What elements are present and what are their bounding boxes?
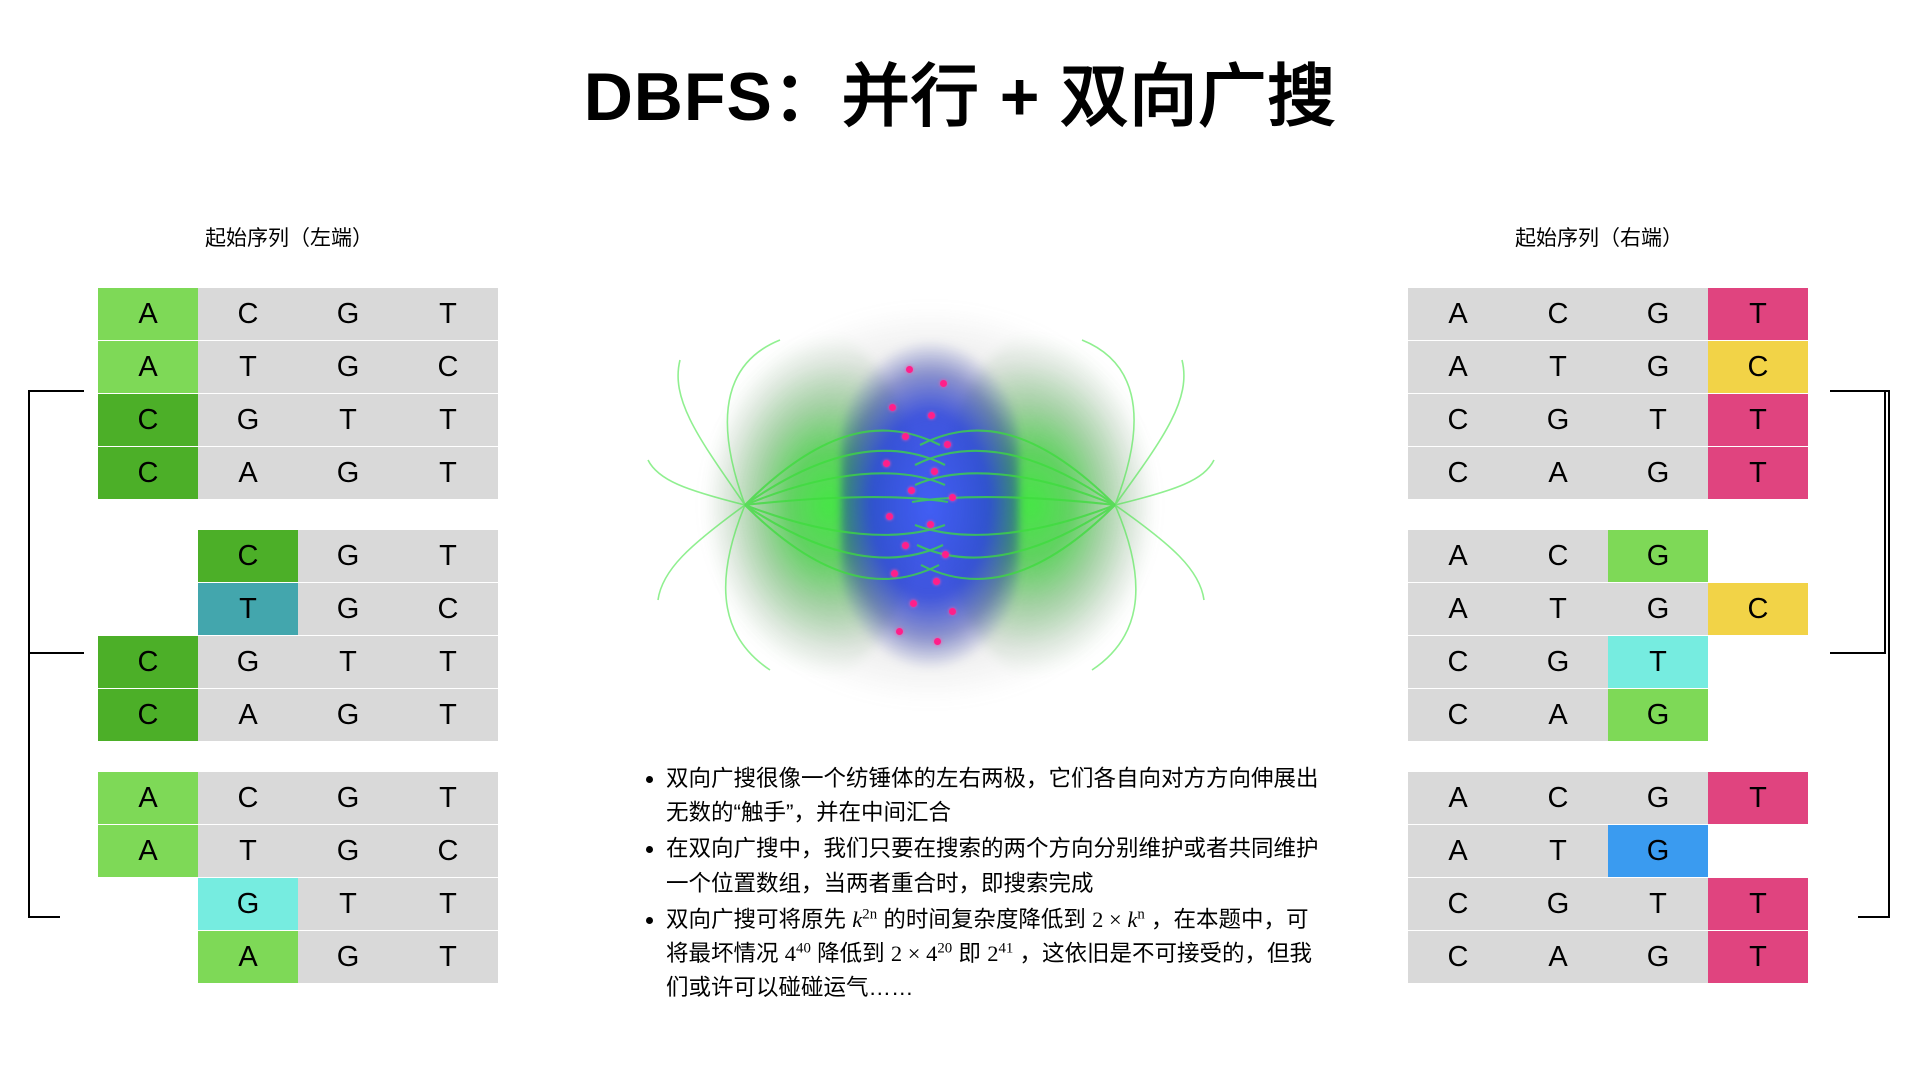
page-title: DBFS：并行 + 双向广搜 [0, 58, 1920, 136]
nucleotide-cell: T [198, 825, 298, 877]
nucleotide-cell: G [298, 689, 398, 741]
block-gap [1408, 500, 1808, 530]
explanation-bullets: 双向广搜很像一个纺锤体的左右两极，它们各自向对方方向伸展出无数的“触手”，并在中… [640, 762, 1320, 1007]
nucleotide-cell: G [298, 772, 398, 824]
block-gap [98, 500, 498, 530]
bullet-1: 双向广搜很像一个纺锤体的左右两极，它们各自向对方方向伸展出无数的“触手”，并在中… [666, 762, 1320, 830]
sequence-row: ACGT [1408, 288, 1808, 340]
nucleotide-cell: A [1408, 530, 1508, 582]
nucleotide-cell: A [1508, 689, 1608, 741]
right-bracket-lower [1858, 390, 1890, 918]
kinetochore-dot [891, 570, 898, 577]
right-block-1: ACGTATGCCGTTCAGT [1408, 288, 1808, 499]
math-token: 2 [987, 941, 998, 966]
sequence-row: CGT [98, 530, 498, 582]
nucleotide-cell: C [1408, 878, 1508, 930]
nucleotide-cell: G [1608, 772, 1708, 824]
right-block-2: ACGATGCCGTCAG [1408, 530, 1808, 741]
kinetochore-dot [949, 494, 956, 501]
nucleotide-cell: G [1608, 341, 1708, 393]
nucleotide-cell: G [1608, 447, 1708, 499]
nucleotide-cell: G [198, 636, 298, 688]
bullet-text: 即 [952, 941, 987, 966]
kinetochore-dot [902, 433, 909, 440]
kinetochore-dot [889, 404, 896, 411]
nucleotide-cell: T [398, 772, 498, 824]
sequence-row: CGT [1408, 636, 1808, 688]
nucleotide-cell: T [1708, 931, 1808, 983]
sequence-row: CAG [1408, 689, 1808, 741]
nucleotide-cell: T [1608, 394, 1708, 446]
left-sequence-panel: ACGTATGCCGTTCAGTCGTTGCCGTTCAGTACGTATGCGT… [98, 288, 498, 984]
nucleotide-cell: G [1608, 288, 1708, 340]
nucleotide-cell: C [98, 447, 198, 499]
math-token: k [852, 907, 862, 932]
spacer-cell [98, 878, 198, 930]
nucleotide-cell: T [1708, 878, 1808, 930]
nucleotide-cell: G [1608, 689, 1708, 741]
nucleotide-cell: C [98, 689, 198, 741]
nucleotide-cell: G [1608, 530, 1708, 582]
nucleotide-cell: A [1508, 931, 1608, 983]
nucleotide-cell: G [1608, 931, 1708, 983]
nucleotide-cell: C [1508, 772, 1608, 824]
nucleotide-cell: A [198, 447, 298, 499]
kinetochore-dot [944, 441, 951, 448]
math-token: 2 × 4 [891, 941, 937, 966]
nucleotide-cell: C [1408, 394, 1508, 446]
nucleotide-cell: G [298, 288, 398, 340]
right-column-label: 起始序列（右端） [1515, 222, 1683, 252]
kinetochore-dot [896, 628, 903, 635]
nucleotide-cell: T [1708, 288, 1808, 340]
kinetochore-dot [942, 551, 949, 558]
sequence-row: ATGC [98, 341, 498, 393]
bullet-text: 双向广搜可将原先 [666, 907, 852, 932]
left-block-3: ACGTATGCGTTAGT [98, 772, 498, 983]
kinetochore-dot [910, 600, 917, 607]
nucleotide-cell: T [398, 288, 498, 340]
nucleotide-cell: T [1708, 394, 1808, 446]
kinetochore-dot [934, 638, 941, 645]
spacer-cell [98, 583, 198, 635]
nucleotide-cell: G [298, 583, 398, 635]
nucleotide-cell: T [398, 530, 498, 582]
right-sequence-panel: ACGTATGCCGTTCAGTACGATGCCGTCAGACGTATGCGTT… [1408, 288, 1808, 984]
sequence-row: CAGT [1408, 931, 1808, 983]
sequence-row: CAGT [1408, 447, 1808, 499]
kinetochore-dot [931, 468, 938, 475]
math-exponent: 41 [998, 940, 1013, 956]
sequence-row: ACGT [98, 772, 498, 824]
nucleotide-cell: G [298, 825, 398, 877]
bullet-3: 双向广搜可将原先 k2n 的时间复杂度降低到 2 × kn ，在本题中，可将最坏… [666, 903, 1320, 1006]
nucleotide-cell: T [1508, 341, 1608, 393]
nucleotide-cell: T [1708, 447, 1808, 499]
nucleotide-cell: C [1408, 636, 1508, 688]
sequence-row: TGC [98, 583, 498, 635]
sequence-row: ATGC [1408, 341, 1808, 393]
nucleotide-cell: T [1508, 825, 1608, 877]
kinetochore-dot [886, 513, 893, 520]
bullet-text: 双向广搜很像一个纺锤体的左右两极，它们各自向对方方向伸展出无数的“触手”，并在中… [666, 766, 1319, 825]
bullet-text: 的时间复杂度降低到 [877, 907, 1092, 932]
nucleotide-cell: T [398, 931, 498, 983]
right-block-3: ACGTATGCGTTCAGT [1408, 772, 1808, 983]
nucleotide-cell: T [1508, 583, 1608, 635]
nucleotide-cell: G [298, 341, 398, 393]
kinetochore-dot [883, 460, 890, 467]
nucleotide-cell: G [1608, 583, 1708, 635]
math-exponent: n [1137, 906, 1144, 922]
kinetochore-dot [908, 487, 915, 494]
sequence-row: AGT [98, 931, 498, 983]
left-block-2: CGTTGCCGTTCAGT [98, 530, 498, 741]
block-gap [98, 742, 498, 772]
mitotic-spindle-image [640, 270, 1220, 740]
nucleotide-cell: A [1408, 772, 1508, 824]
nucleotide-cell: A [98, 825, 198, 877]
left-bracket-lower [28, 390, 60, 918]
sequence-row: ATG [1408, 825, 1808, 877]
math-token: k [1127, 907, 1137, 932]
nucleotide-cell: C [198, 530, 298, 582]
spacer-cell [98, 530, 198, 582]
nucleotide-cell: C [1408, 447, 1508, 499]
nucleotide-cell: T [398, 689, 498, 741]
nucleotide-cell: A [98, 288, 198, 340]
kinetochore-dot [933, 578, 940, 585]
kinetochore-dot [906, 366, 913, 373]
bullet-2: 在双向广搜中，我们只要在搜索的两个方向分别维护或者共同维护一个位置数组，当两者重… [666, 832, 1320, 900]
microtubule-fibers [640, 270, 1220, 740]
sequence-row: CGTT [98, 636, 498, 688]
nucleotide-cell: C [198, 772, 298, 824]
nucleotide-cell: T [398, 636, 498, 688]
nucleotide-cell: A [98, 341, 198, 393]
nucleotide-cell: A [198, 689, 298, 741]
nucleotide-cell: T [298, 394, 398, 446]
sequence-row: CGTT [1408, 878, 1808, 930]
left-block-1: ACGTATGCCGTTCAGT [98, 288, 498, 499]
nucleotide-cell: G [1508, 394, 1608, 446]
nucleotide-cell: A [98, 772, 198, 824]
sequence-row: ACGT [98, 288, 498, 340]
nucleotide-cell: C [1708, 583, 1808, 635]
nucleotide-cell: A [1408, 583, 1508, 635]
nucleotide-cell: T [198, 341, 298, 393]
nucleotide-cell: G [298, 530, 398, 582]
nucleotide-cell: C [1508, 530, 1608, 582]
slide-root: DBFS：并行 + 双向广搜 起始序列（左端） 起始序列（右端） ACGTATG… [0, 0, 1920, 1080]
bullet-text: 在双向广搜中，我们只要在搜索的两个方向分别维护或者共同维护一个位置数组，当两者重… [666, 836, 1319, 895]
sequence-row: CAGT [98, 447, 498, 499]
nucleotide-cell: T [298, 878, 398, 930]
sequence-row: ACGT [1408, 772, 1808, 824]
sequence-row: ACG [1408, 530, 1808, 582]
sequence-row: CGTT [98, 394, 498, 446]
sequence-row: CGTT [1408, 394, 1808, 446]
kinetochore-dot [940, 380, 947, 387]
left-column-label: 起始序列（左端） [205, 222, 373, 252]
nucleotide-cell: C [98, 636, 198, 688]
nucleotide-cell: T [298, 636, 398, 688]
nucleotide-cell: C [1408, 689, 1508, 741]
math-exponent: 20 [937, 940, 952, 956]
math-token: 2 × [1092, 907, 1127, 932]
math-exponent: 2n [862, 906, 877, 922]
kinetochore-dot [902, 542, 909, 549]
bullet-text: 降低到 [811, 941, 891, 966]
nucleotide-cell: A [1408, 825, 1508, 877]
math-token: 4 [785, 941, 796, 966]
nucleotide-cell: T [398, 394, 498, 446]
kinetochore-dot [928, 412, 935, 419]
nucleotide-cell: T [1608, 636, 1708, 688]
nucleotide-cell: C [398, 825, 498, 877]
nucleotide-cell: T [198, 583, 298, 635]
nucleotide-cell: A [198, 931, 298, 983]
nucleotide-cell: A [1508, 447, 1608, 499]
nucleotide-cell: A [1408, 288, 1508, 340]
kinetochore-dot [949, 608, 956, 615]
nucleotide-cell: T [398, 878, 498, 930]
nucleotide-cell: T [1608, 878, 1708, 930]
sequence-row: ATGC [98, 825, 498, 877]
nucleotide-cell: T [398, 447, 498, 499]
nucleotide-cell: C [198, 288, 298, 340]
sequence-row: ATGC [1408, 583, 1808, 635]
nucleotide-cell: C [398, 341, 498, 393]
nucleotide-cell: C [398, 583, 498, 635]
nucleotide-cell: A [1408, 341, 1508, 393]
sequence-row: GTT [98, 878, 498, 930]
block-gap [1408, 742, 1808, 772]
nucleotide-cell: C [1708, 341, 1808, 393]
nucleotide-cell: G [1508, 636, 1608, 688]
nucleotide-cell: C [1508, 288, 1608, 340]
sequence-row: CAGT [98, 689, 498, 741]
math-exponent: 40 [796, 940, 811, 956]
nucleotide-cell: C [98, 394, 198, 446]
nucleotide-cell: G [1608, 825, 1708, 877]
nucleotide-cell: G [198, 394, 298, 446]
nucleotide-cell: G [298, 447, 398, 499]
nucleotide-cell: G [298, 931, 398, 983]
nucleotide-cell: G [1508, 878, 1608, 930]
kinetochore-dot [927, 521, 934, 528]
nucleotide-cell: G [198, 878, 298, 930]
nucleotide-cell: T [1708, 772, 1808, 824]
spacer-cell [98, 931, 198, 983]
nucleotide-cell: C [1408, 931, 1508, 983]
